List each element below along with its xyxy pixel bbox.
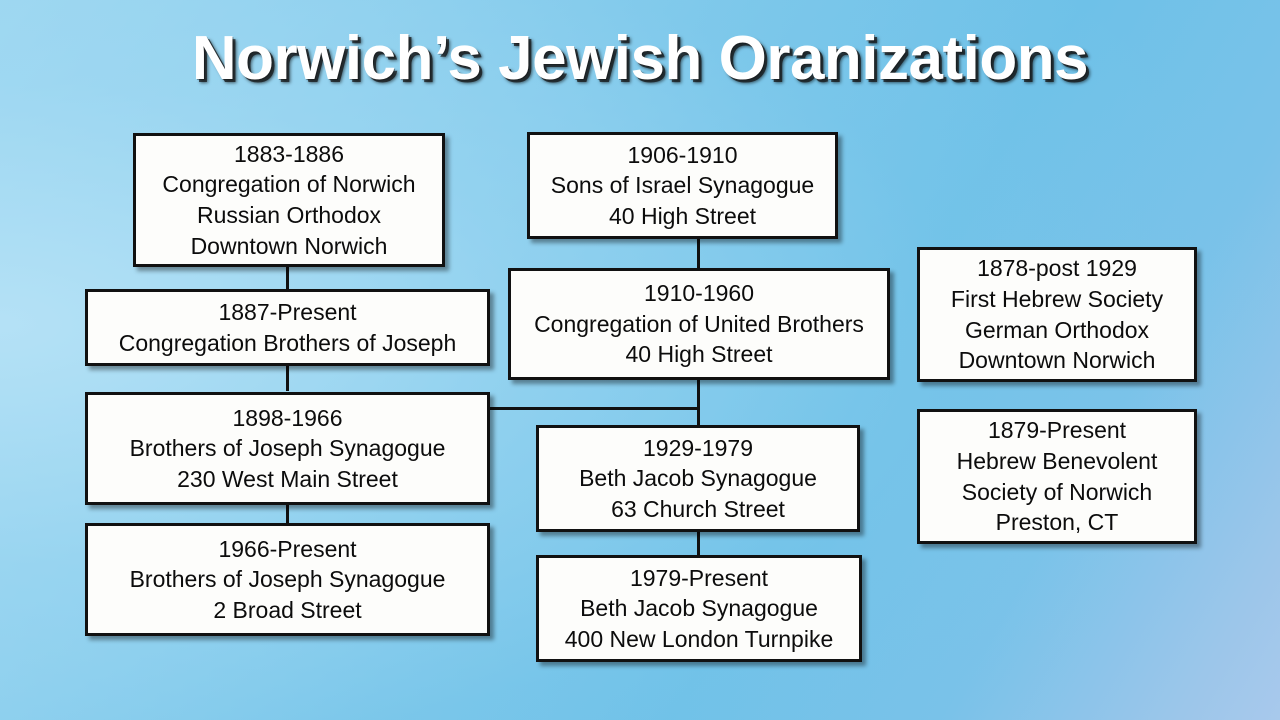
node-name: Brothers of Joseph Synagogue	[130, 564, 446, 595]
node-name: Congregation Brothers of Joseph	[119, 328, 457, 359]
node-years: 1878-post 1929	[977, 253, 1137, 284]
node-beth-jacob-synagogue-1979[interactable]: 1979-Present Beth Jacob Synagogue 400 Ne…	[536, 555, 862, 662]
page-title: Norwich’s Jewish Oranizations	[0, 26, 1280, 91]
node-hebrew-benevolent-society-1879[interactable]: 1879-Present Hebrew Benevolent Society o…	[917, 409, 1197, 544]
node-location: 40 High Street	[609, 201, 756, 232]
node-name: First Hebrew Society	[951, 284, 1163, 315]
node-beth-jacob-synagogue-1929[interactable]: 1929-1979 Beth Jacob Synagogue 63 Church…	[536, 425, 860, 532]
node-first-hebrew-society-1878[interactable]: 1878-post 1929 First Hebrew Society Germ…	[917, 247, 1197, 382]
node-name: Beth Jacob Synagogue	[580, 593, 818, 624]
node-years: 1883-1886	[234, 139, 344, 170]
node-years: 1910-1960	[644, 278, 754, 309]
connector-ub1910-to-beth1929	[697, 407, 700, 427]
node-sons-of-israel-synagogue-1906[interactable]: 1906-1910 Sons of Israel Synagogue 40 Hi…	[527, 132, 838, 239]
node-brothers-of-joseph-synagogue-1966[interactable]: 1966-Present Brothers of Joseph Synagogu…	[85, 523, 490, 636]
node-location: 230 West Main Street	[177, 464, 398, 495]
connector-ub1906-to-ub1910	[697, 238, 700, 268]
connector-bj1887-to-bj1898	[286, 365, 289, 391]
node-years: 1879-Present	[988, 415, 1126, 446]
node-congregation-of-norwich-1883[interactable]: 1883-1886 Congregation of Norwich Russia…	[133, 133, 445, 267]
node-congregation-brothers-of-joseph-1887[interactable]: 1887-Present Congregation Brothers of Jo…	[85, 289, 490, 366]
node-congregation-of-united-brothers-1910[interactable]: 1910-1960 Congregation of United Brother…	[508, 268, 890, 380]
node-location: 63 Church Street	[611, 494, 785, 525]
node-years: 1979-Present	[630, 563, 768, 594]
connector-bj1883-to-bj1887	[286, 265, 289, 291]
node-name: Sons of Israel Synagogue	[551, 170, 814, 201]
node-years: 1929-1979	[643, 433, 753, 464]
node-brothers-of-joseph-synagogue-1898[interactable]: 1898-1966 Brothers of Joseph Synagogue 2…	[85, 392, 490, 505]
node-detail: German Orthodox	[965, 315, 1149, 346]
node-location: 40 High Street	[625, 339, 772, 370]
node-name: Beth Jacob Synagogue	[579, 463, 817, 494]
node-name: Congregation of United Brothers	[534, 309, 864, 340]
node-years: 1887-Present	[218, 297, 356, 328]
connector-ub1910-to-bj1898-elbow	[488, 407, 700, 410]
node-years: 1898-1966	[233, 403, 343, 434]
slide-canvas: Norwich’s Jewish Oranizations 1883-1886 …	[0, 0, 1280, 720]
node-location: 400 New London Turnpike	[565, 624, 834, 655]
node-name: Congregation of Norwich	[162, 169, 415, 200]
node-detail: Society of Norwich	[962, 477, 1152, 508]
node-years: 1966-Present	[218, 534, 356, 565]
node-name: Brothers of Joseph Synagogue	[130, 433, 446, 464]
node-location: Preston, CT	[996, 507, 1119, 538]
node-location: Downtown Norwich	[191, 231, 388, 262]
node-name: Hebrew Benevolent	[957, 446, 1158, 477]
node-location: Downtown Norwich	[959, 345, 1156, 376]
node-location: 2 Broad Street	[213, 595, 361, 626]
node-years: 1906-1910	[628, 140, 738, 171]
node-detail: Russian Orthodox	[197, 200, 381, 231]
connector-ub1910-down-stub	[697, 379, 700, 410]
connector-beth1929-to-beth1979	[697, 531, 700, 557]
